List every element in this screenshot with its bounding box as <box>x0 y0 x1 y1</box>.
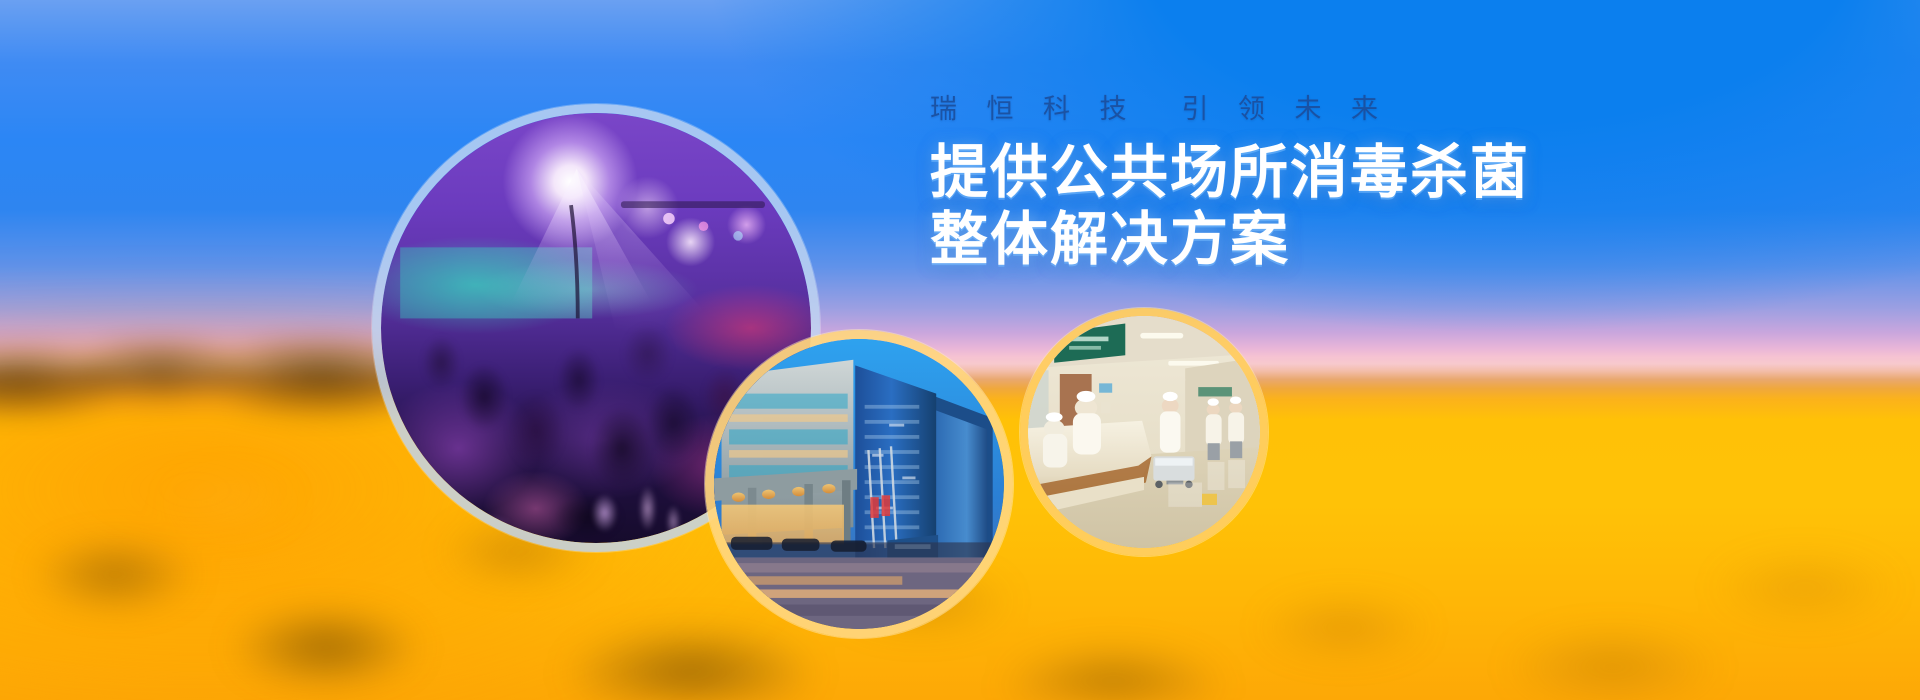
tagline: 瑞 恒 科 技 引 领 未 来 <box>930 96 1650 123</box>
tagline-right: 引 领 未 来 <box>1182 96 1390 123</box>
hospital-ward-svg <box>1028 316 1260 548</box>
circle-photo-hospital[interactable] <box>1020 308 1268 556</box>
page-title: 提供公共场所消毒杀菌 整体解决方案 <box>930 139 1650 274</box>
hospital-photo <box>1028 316 1260 548</box>
tagline-left: 瑞 恒 科 技 <box>930 96 1138 123</box>
office-photo <box>714 339 1004 629</box>
hero-text-block: 瑞 恒 科 技 引 领 未 来 提供公共场所消毒杀菌 整体解决方案 <box>930 96 1650 274</box>
office-towers-svg <box>714 339 1004 629</box>
headline-line-2: 整体解决方案 <box>930 206 1650 273</box>
headline-line-1: 提供公共场所消毒杀菌 <box>930 139 1650 206</box>
circle-photo-office[interactable] <box>705 330 1013 638</box>
hero-banner: 瑞 恒 科 技 引 领 未 来 提供公共场所消毒杀菌 整体解决方案 <box>0 0 1920 700</box>
